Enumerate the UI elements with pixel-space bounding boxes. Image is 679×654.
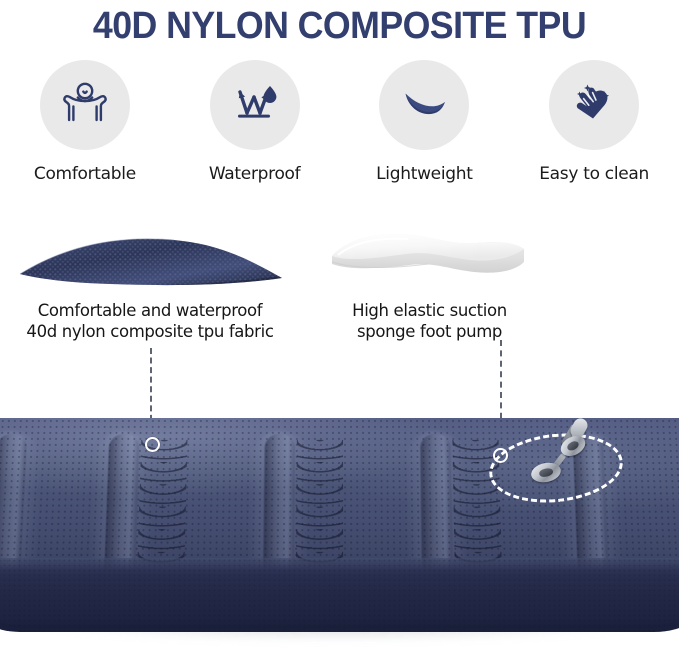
feature-item-lightweight: Lightweight — [340, 60, 510, 184]
fabric-dot-texture — [0, 558, 679, 632]
feature-list: Comfortable — [0, 60, 679, 200]
mattress-side-wall — [0, 558, 679, 632]
feature-label: Comfortable — [34, 164, 136, 184]
callout-label-fabric: Comfortable and waterproof 40d nylon com… — [0, 300, 300, 342]
callout-node-pump — [493, 448, 508, 463]
feature-label: Easy to clean — [539, 164, 649, 184]
icon-badge — [40, 60, 130, 150]
valve-hole — [538, 467, 553, 478]
callout-label-pump: High elastic suction sponge foot pump — [312, 300, 547, 342]
sponge-foot-pump — [318, 222, 538, 294]
valve-hole — [566, 440, 580, 453]
water-repellent-icon — [227, 75, 283, 135]
icon-badge — [210, 60, 300, 150]
wiping-hand-icon — [566, 75, 622, 135]
feature-item-easy-to-clean: Easy to clean — [509, 60, 679, 184]
nylon-fabric-swatch — [14, 228, 294, 293]
feather-icon — [395, 74, 453, 136]
page-title: 40D NYLON COMPOSITE TPU — [20, 0, 658, 52]
callout-node-fabric — [145, 437, 160, 452]
feature-label: Lightweight — [376, 164, 472, 184]
relaxing-person-icon — [57, 75, 113, 135]
feature-label: Waterproof — [209, 164, 300, 184]
icon-badge — [379, 60, 469, 150]
feature-item-waterproof: Waterproof — [170, 60, 340, 184]
feature-item-comfortable: Comfortable — [0, 60, 170, 184]
icon-badge — [549, 60, 639, 150]
infographic-root: 40D NYLON COMPOSITE TPU Comfortable — [0, 0, 679, 654]
